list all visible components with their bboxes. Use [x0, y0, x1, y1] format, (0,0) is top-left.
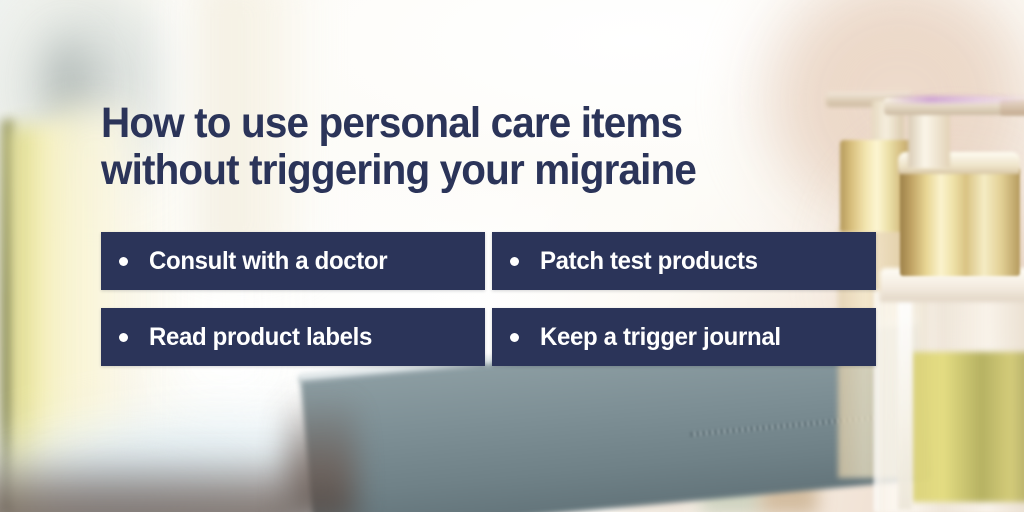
- tip-label: Keep a trigger journal: [540, 323, 781, 351]
- tip-card-patch-test-products: Patch test products: [492, 232, 876, 290]
- tip-label: Patch test products: [540, 247, 758, 275]
- bullet-dot-icon: [510, 257, 519, 266]
- tips-grid: Consult with a doctor Patch test product…: [101, 232, 876, 366]
- tip-card-consult-with-a-doctor: Consult with a doctor: [101, 232, 485, 290]
- bullet-dot-icon: [119, 333, 128, 342]
- tip-label: Consult with a doctor: [149, 247, 387, 275]
- tip-card-keep-a-trigger-journal: Keep a trigger journal: [492, 308, 876, 366]
- tip-card-read-product-labels: Read product labels: [101, 308, 485, 366]
- bullet-dot-icon: [510, 333, 519, 342]
- tip-label: Read product labels: [149, 323, 372, 351]
- promo-graphic: How to use personal care items without t…: [0, 0, 1024, 512]
- overlay-content: How to use personal care items without t…: [0, 0, 1024, 512]
- page-title: How to use personal care items without t…: [101, 100, 815, 194]
- bullet-dot-icon: [119, 257, 128, 266]
